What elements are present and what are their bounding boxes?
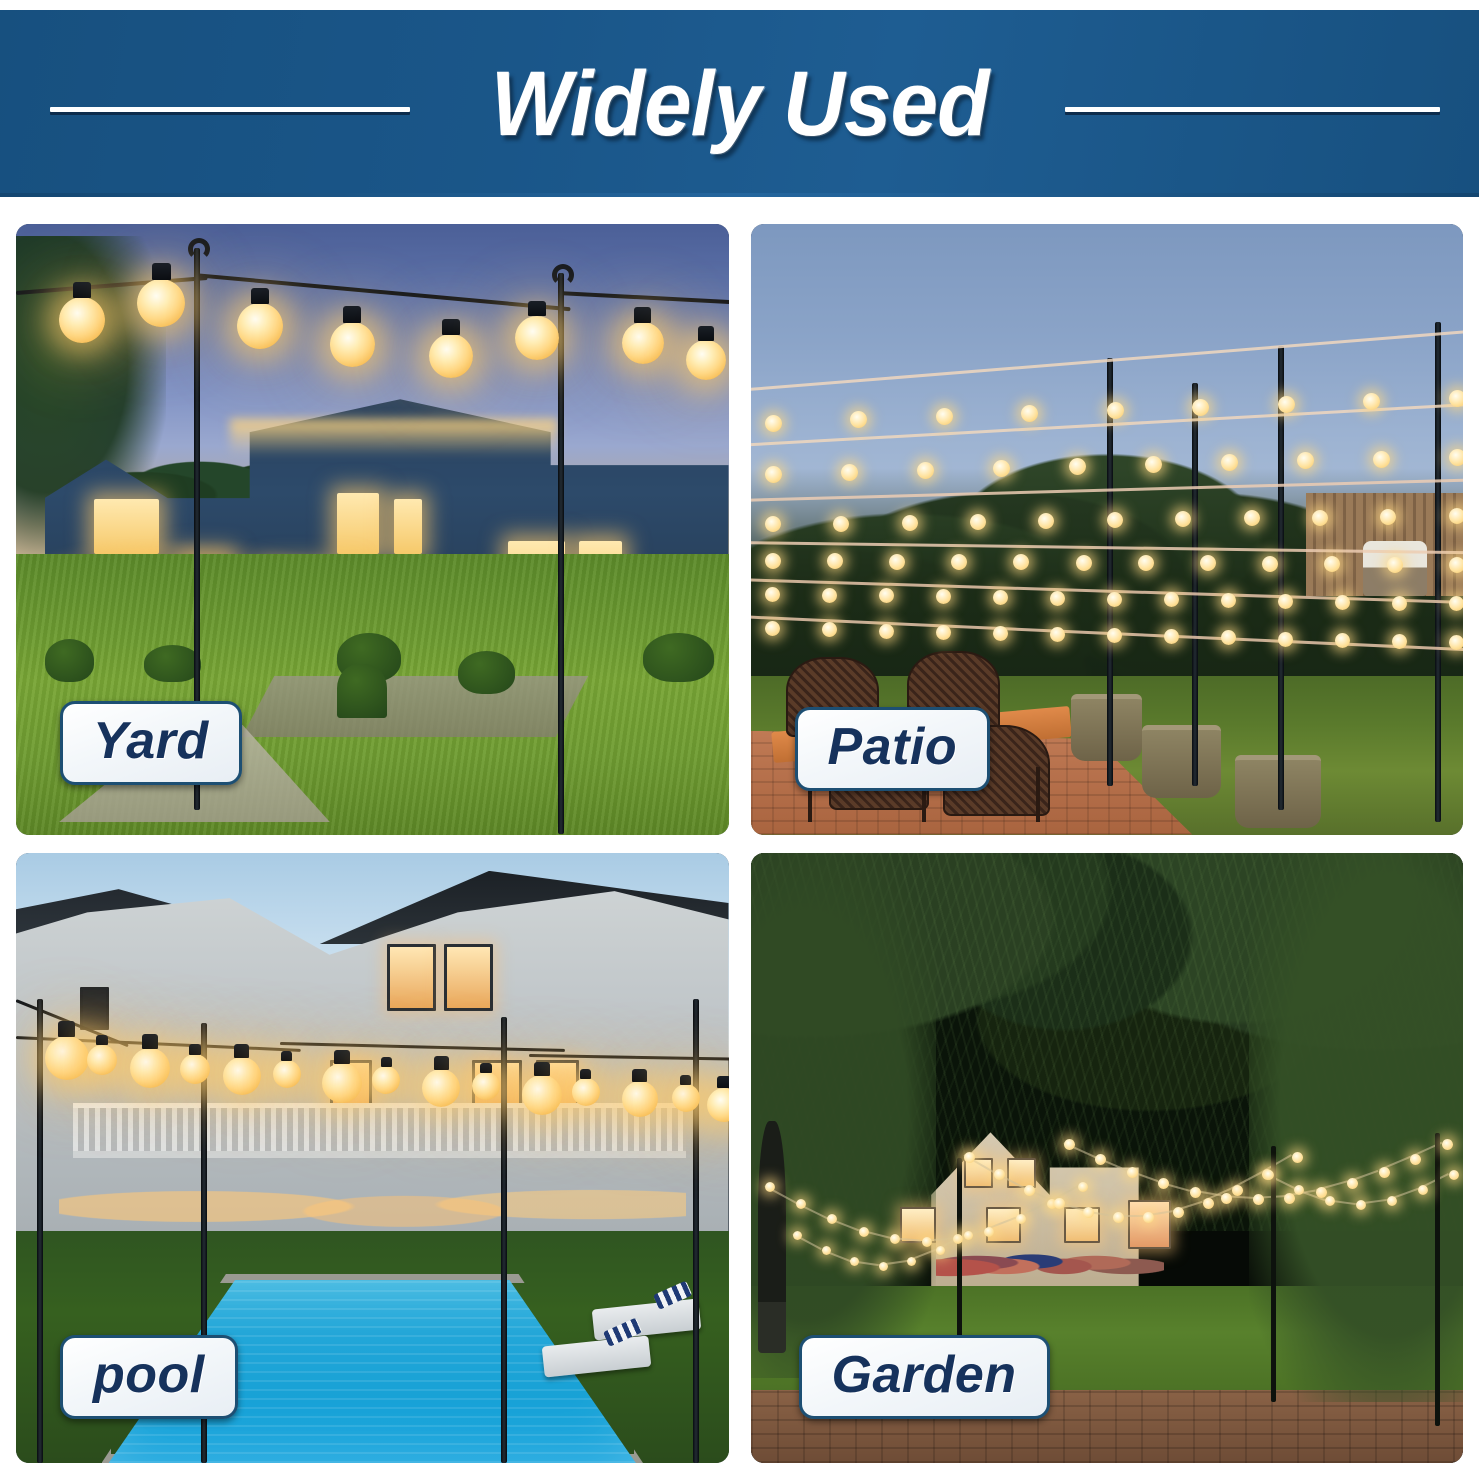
string-light-bulb xyxy=(859,1227,869,1237)
string-light-bulb xyxy=(1449,557,1463,573)
string-light-bulb xyxy=(1138,555,1154,571)
string-light-bulb xyxy=(1232,1185,1243,1196)
light-pole xyxy=(1192,383,1198,786)
string-light-bulb xyxy=(322,1063,362,1103)
header-rule-right xyxy=(1065,107,1440,112)
string-light-bulb xyxy=(1221,1193,1232,1204)
string-light-bulb xyxy=(1278,396,1295,413)
panel-label-patio: Patio xyxy=(795,707,991,791)
string-light-bulb xyxy=(622,322,664,364)
string-light-bulb xyxy=(1145,456,1162,473)
panel-label-garden: Garden xyxy=(799,1335,1050,1419)
string-light-bulb xyxy=(180,1054,210,1084)
string-light-bulb xyxy=(422,1069,460,1107)
panel-label-text: Patio xyxy=(828,720,958,775)
string-light-bulb xyxy=(902,515,918,531)
light-pole xyxy=(1435,322,1441,823)
string-light-bulb xyxy=(137,279,185,327)
patio-umbrella xyxy=(758,1121,787,1353)
string-light-bulb xyxy=(1244,510,1260,526)
string-light-bulb xyxy=(936,589,951,604)
string-light-bulb xyxy=(964,1152,975,1163)
string-light-bulb xyxy=(87,1045,117,1075)
string-light-bulb xyxy=(1107,402,1124,419)
string-light-bulb xyxy=(1442,1139,1453,1150)
string-light-bulb xyxy=(936,625,951,640)
string-light-bulb xyxy=(1449,635,1463,650)
light-pole xyxy=(693,999,699,1463)
string-light-bulb xyxy=(765,415,782,432)
string-light-bulb xyxy=(330,322,375,367)
string-light-bulb xyxy=(765,587,780,602)
string-light-bulb xyxy=(1449,596,1463,611)
string-light-bulb xyxy=(970,514,986,530)
string-light-bulb xyxy=(1410,1154,1421,1165)
string-light-bulb xyxy=(917,462,934,479)
string-light-bulb xyxy=(1373,451,1390,468)
string-light-bulb xyxy=(237,303,283,349)
string-light-bulb xyxy=(1292,1152,1303,1163)
panel-label-text: Garden xyxy=(832,1348,1017,1403)
string-light-bulb xyxy=(1221,593,1236,608)
use-case-grid: Yard xyxy=(16,224,1463,1463)
string-light-bulb xyxy=(833,516,849,532)
string-light-bulb xyxy=(1278,632,1293,647)
string-light-bulb xyxy=(984,1227,994,1237)
string-light-bulb xyxy=(1262,556,1278,572)
light-pole xyxy=(1271,1146,1276,1402)
string-light-bulb xyxy=(1127,1167,1138,1178)
string-light-bulb xyxy=(922,1237,932,1247)
string-light-bulb xyxy=(993,626,1008,641)
string-light-bulb xyxy=(1203,1198,1214,1209)
string-light-bulb xyxy=(1107,628,1122,643)
panel-garden[interactable]: Garden xyxy=(751,853,1464,1464)
string-light-bulb xyxy=(1164,629,1179,644)
string-light-bulb xyxy=(1050,591,1065,606)
string-light-bulb xyxy=(1190,1187,1201,1198)
string-light-bulb xyxy=(1278,594,1293,609)
string-light-bulb xyxy=(1143,1212,1154,1223)
string-light-bulb xyxy=(993,590,1008,605)
string-light-bulb xyxy=(1221,454,1238,471)
string-light-bulb xyxy=(1107,512,1123,528)
panel-patio[interactable]: Patio xyxy=(751,224,1464,835)
string-light-bulb xyxy=(1054,1198,1065,1209)
string-light-bulb xyxy=(686,340,726,380)
string-light-bulb xyxy=(879,624,894,639)
string-light-bulb xyxy=(994,1169,1005,1180)
panel-pool[interactable]: pool xyxy=(16,853,729,1464)
string-light-bulb xyxy=(372,1066,400,1094)
string-light-bulb xyxy=(1107,592,1122,607)
string-light-bulb xyxy=(879,1262,888,1271)
string-light-bulb xyxy=(1284,1193,1295,1204)
string-light-bulb xyxy=(1449,449,1463,466)
string-light-bulb xyxy=(1069,458,1086,475)
string-light-bulb xyxy=(822,588,837,603)
page-title: Widely Used xyxy=(491,58,989,150)
header-rule-left xyxy=(50,107,410,112)
string-light-bulb xyxy=(1449,1170,1459,1180)
string-light-bulb xyxy=(879,588,894,603)
string-light-bulb xyxy=(707,1088,728,1122)
string-light-bulb xyxy=(522,1075,562,1115)
string-light-bulb xyxy=(765,621,780,636)
string-light-bulb xyxy=(1335,633,1350,648)
string-light-bulb xyxy=(622,1081,658,1117)
string-light-bulb xyxy=(273,1060,301,1088)
string-light-bulb xyxy=(1264,1170,1274,1180)
string-light-bulb xyxy=(889,554,905,570)
string-light-bulb xyxy=(822,1246,831,1255)
string-light-bulb xyxy=(515,316,559,360)
string-light-bulb xyxy=(1449,390,1463,407)
string-light-bulb xyxy=(472,1072,500,1100)
string-light-bulb xyxy=(672,1084,700,1112)
panel-label-pool: pool xyxy=(60,1335,238,1419)
string-light-bulb xyxy=(841,464,858,481)
string-light-bulb xyxy=(1076,555,1092,571)
string-light-bulb xyxy=(765,1182,775,1192)
string-light-bulb xyxy=(827,553,843,569)
string-light-bulb xyxy=(429,334,473,378)
light-pole xyxy=(501,1017,507,1463)
header-banner: Widely Used xyxy=(0,10,1479,197)
panel-label-text: Yard xyxy=(93,714,209,769)
string-light-bulb xyxy=(936,1246,945,1255)
string-light-bulb xyxy=(1392,596,1407,611)
string-light-bulb xyxy=(572,1078,600,1106)
string-light-bulb xyxy=(1016,1214,1026,1224)
panel-yard[interactable]: Yard xyxy=(16,224,729,835)
light-pole xyxy=(37,999,43,1463)
string-light-bulb xyxy=(59,297,105,343)
string-light-bulb xyxy=(223,1057,261,1095)
panel-label-yard: Yard xyxy=(60,701,242,785)
string-light-bulb xyxy=(1024,1185,1035,1196)
infographic-page: Widely Used xyxy=(0,0,1479,1479)
string-light-bulb xyxy=(1164,592,1179,607)
string-light-bulb xyxy=(765,553,781,569)
string-light-bulb xyxy=(45,1036,89,1080)
string-light-bulb xyxy=(1312,510,1328,526)
string-light-bulb xyxy=(130,1048,170,1088)
string-light-bulb xyxy=(1379,1167,1390,1178)
string-light-bulb xyxy=(1173,1207,1184,1218)
string-light-bulb xyxy=(1335,595,1350,610)
string-light-bulb xyxy=(1387,557,1403,573)
light-pole xyxy=(1435,1133,1440,1426)
string-light-bulb xyxy=(993,460,1010,477)
string-light-bulb xyxy=(1392,634,1407,649)
string-light-bulb xyxy=(1380,509,1396,525)
string-light-bulb xyxy=(1316,1187,1327,1198)
string-light-bulb xyxy=(765,466,782,483)
string-light-bulb xyxy=(1050,627,1065,642)
panel-label-text: pool xyxy=(93,1348,205,1403)
string-light-bulb xyxy=(1449,508,1463,524)
